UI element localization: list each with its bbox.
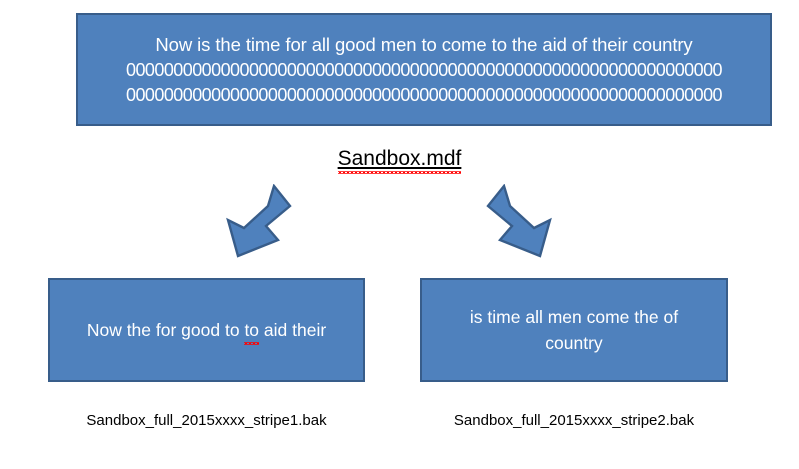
arrow-to-stripe1	[226, 184, 292, 260]
slide-canvas: Now is the time for all good men to come…	[0, 0, 799, 469]
stripe2-text-before: is time all men come the of country	[470, 307, 678, 353]
stripe1-text-after: aid their	[259, 320, 326, 340]
stripe2-text: is time all men come the of country	[422, 304, 726, 356]
source-sentence-line: Now is the time for all good men to come…	[155, 32, 692, 58]
arrow-to-stripe2	[486, 184, 552, 260]
arrow-down-left-icon	[226, 184, 292, 260]
source-file-name: Sandbox.mdf	[338, 147, 462, 171]
stripe2-caption: Sandbox_full_2015xxxx_stripe2.bak	[420, 412, 728, 429]
stripe1-text: Now the for good to to aid their	[69, 317, 344, 343]
stripe1-box[interactable]: Now the for good to to aid their	[48, 278, 365, 382]
stripe1-caption: Sandbox_full_2015xxxx_stripe1.bak	[48, 412, 365, 429]
source-zeros-line-1: 0000000000000000000000000000000000000000…	[126, 58, 722, 83]
source-database-box[interactable]: Now is the time for all good men to come…	[76, 13, 772, 126]
source-zeros-line-2: 0000000000000000000000000000000000000000…	[126, 83, 722, 108]
stripe2-box[interactable]: is time all men come the of country	[420, 278, 728, 382]
arrow-down-right-icon	[486, 184, 552, 260]
stripe1-text-flagged: to	[244, 317, 259, 343]
source-file-label: Sandbox.mdf	[0, 147, 799, 171]
stripe1-text-before: Now the for good to	[87, 320, 245, 340]
